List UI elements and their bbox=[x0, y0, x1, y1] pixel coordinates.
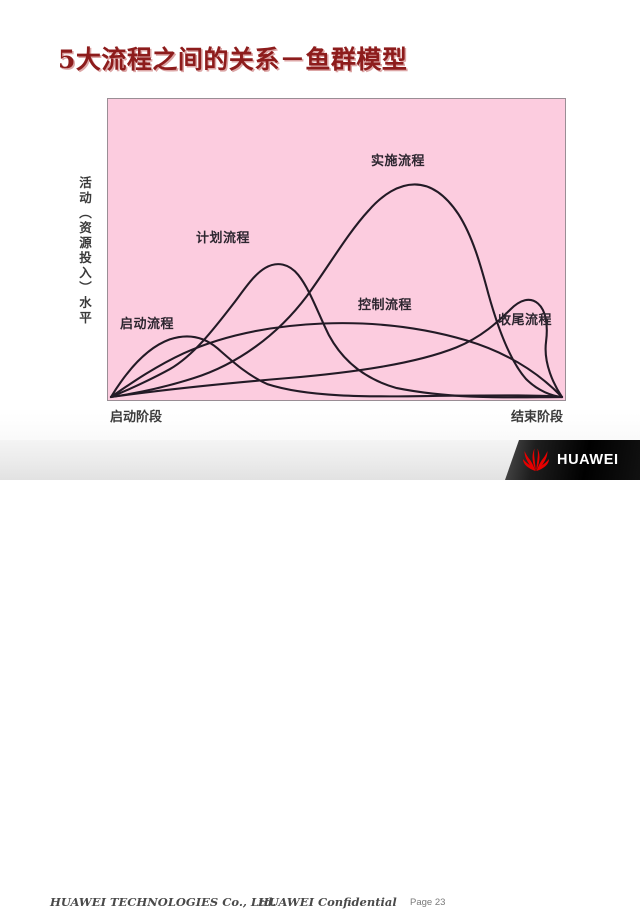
footer-company-name: HUAWEI TECHNOLOGIES Co., Ltd. bbox=[50, 895, 276, 909]
presentation-slide: 5大流程之间的关系－鱼群模型 活动（资源投入）水平 启动流程 计划流程 实施流程… bbox=[0, 0, 640, 480]
curve-execution bbox=[111, 184, 562, 397]
curve-label-planning: 计划流程 bbox=[196, 227, 250, 246]
curve-label-control: 控制流程 bbox=[358, 294, 412, 313]
y-axis-label: 活动（资源投入）水平 bbox=[72, 176, 92, 326]
curve-control bbox=[111, 323, 562, 397]
curve-label-closing: 收尾流程 bbox=[498, 309, 552, 328]
huawei-wordmark: HUAWEI bbox=[557, 452, 619, 468]
page-title: 5大流程之间的关系－鱼群模型 bbox=[58, 40, 407, 76]
curve-planning bbox=[111, 264, 562, 397]
huawei-flower-icon bbox=[523, 448, 549, 472]
chart-curves bbox=[108, 99, 565, 400]
chart-plot-area bbox=[107, 98, 566, 401]
footer-page-number: Page 23 bbox=[410, 897, 445, 908]
footer-confidentiality-notice: HUAWEI Confidential bbox=[258, 895, 397, 909]
huawei-logo-panel: HUAWEI bbox=[505, 440, 640, 480]
x-axis-label-end: 结束阶段 bbox=[511, 406, 563, 425]
curve-label-initiation: 启动流程 bbox=[120, 313, 174, 332]
curve-label-execution: 实施流程 bbox=[371, 150, 425, 169]
x-axis-label-start: 启动阶段 bbox=[110, 406, 162, 425]
